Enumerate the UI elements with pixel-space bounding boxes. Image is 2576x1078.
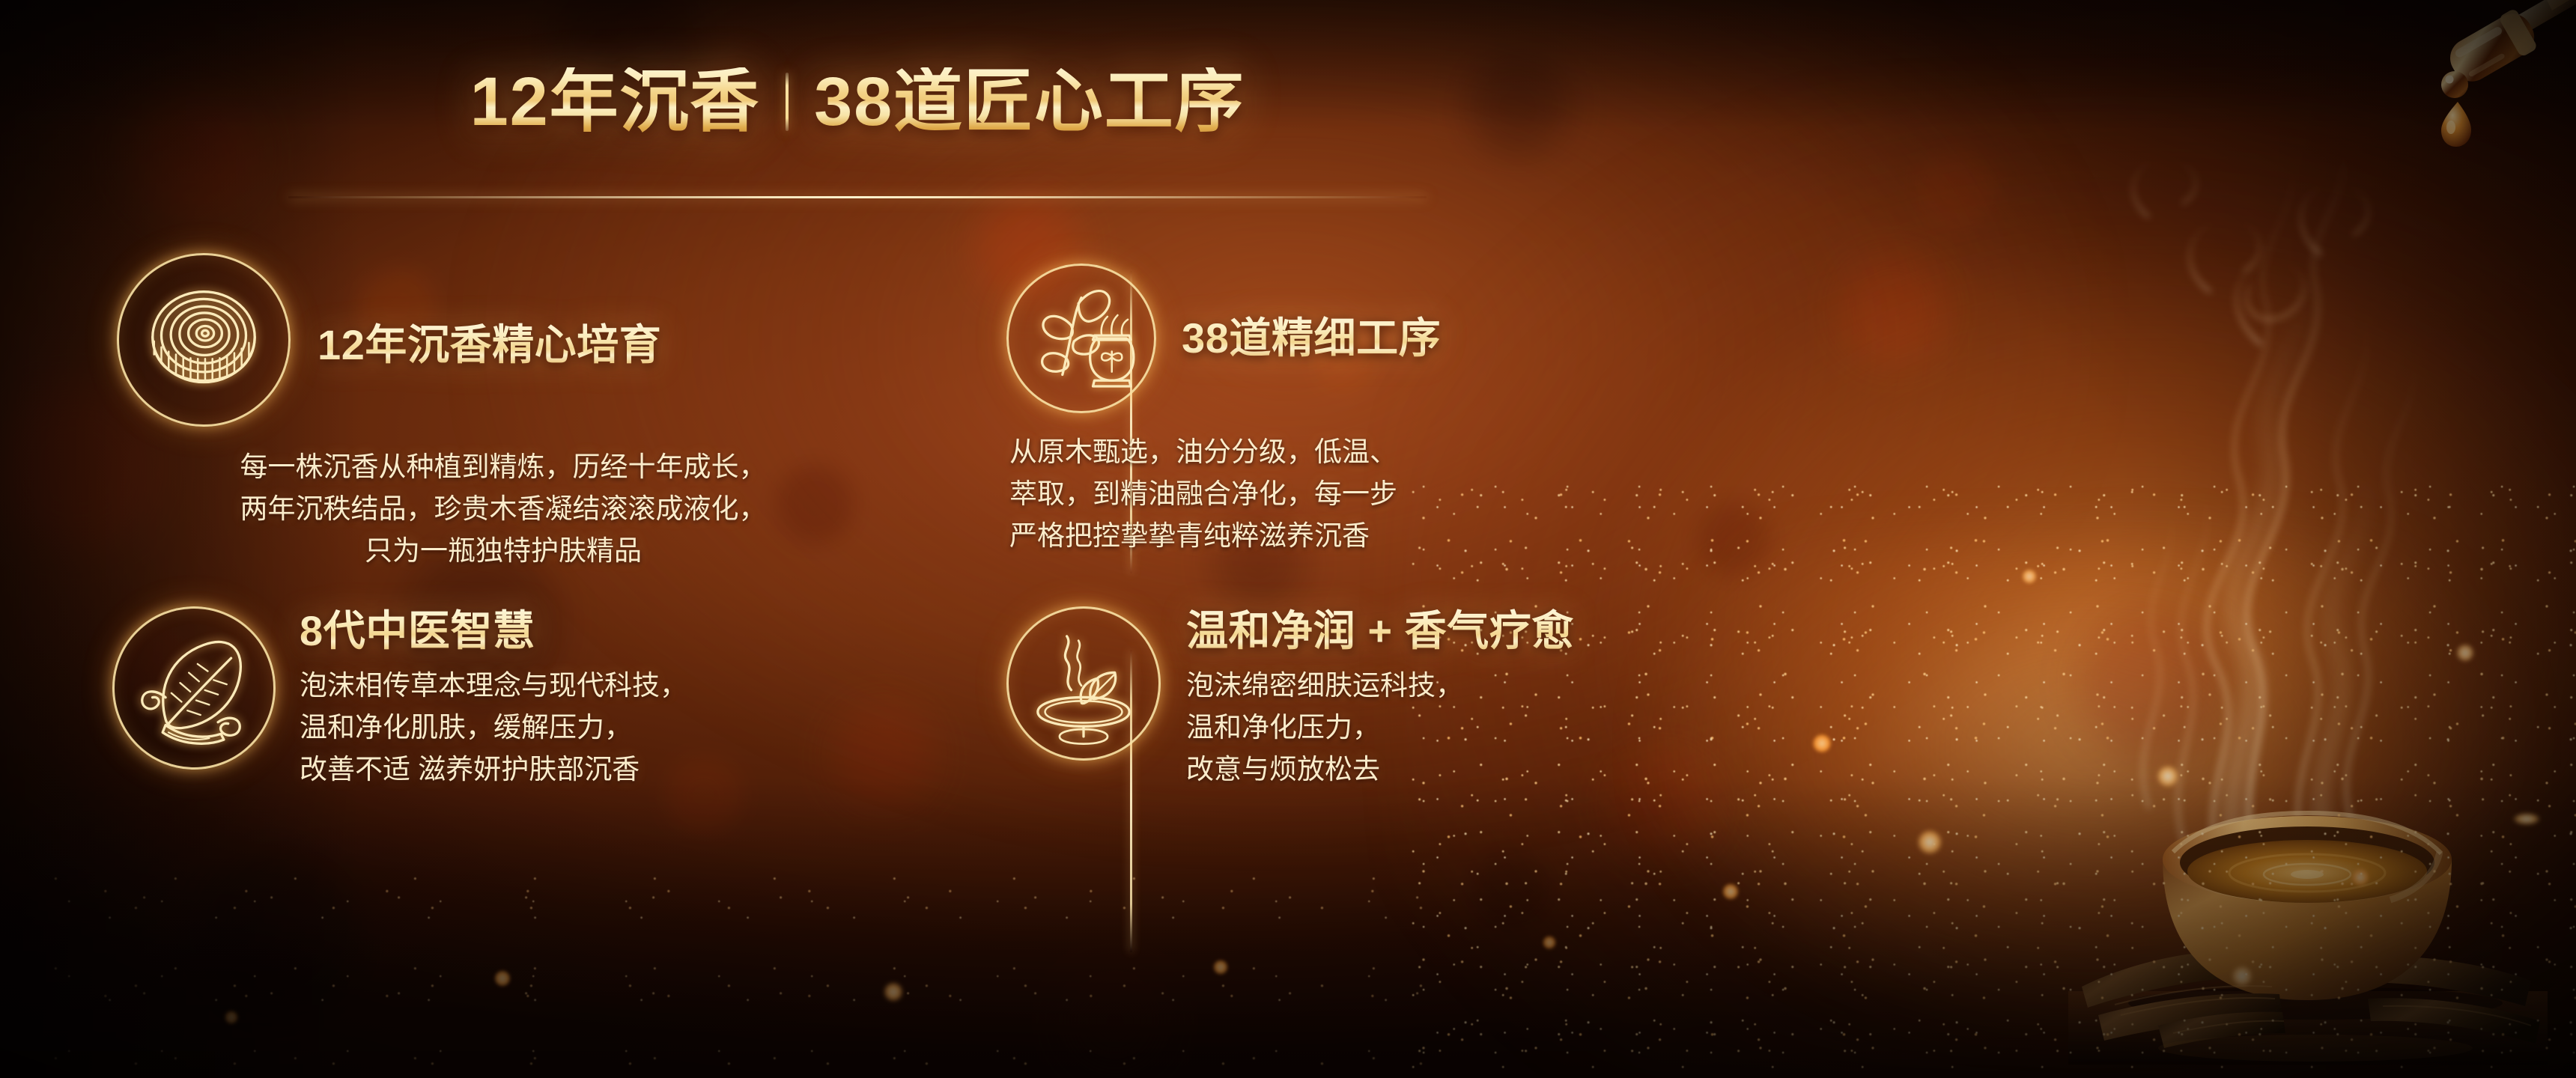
feature-card-4-header: 温和净润 + 香气疗愈 泡沫绵密细肤运科技， 温和净化压力， 改意与烦放松去 [967,602,1739,791]
title-left-text: 12年沉香 [470,67,761,136]
feature-card-2-header: 38道精细工序 [967,264,1739,413]
feature-card-2-body: 从原木甄选，油分分级，低温、 萃取，到精油融合净化，每一步 严格把控挚挚青纯粹滋… [967,431,1739,558]
feature-grid: 12年沉香精心培育 每一株沉香从种植到精炼，历经十年成长， 两年沉秩结品，珍贵木… [84,264,1739,982]
banner-stage: 12年沉香 38道匠心工序 [0,0,2576,1078]
feature-card-3-heading: 8代中医智慧 [300,608,687,654]
herb-jar-icon [1006,264,1156,413]
banner-content: 12年沉香 38道匠心工序 [0,0,2576,1078]
feature-card-1-body: 每一株沉香从种植到精炼，历经十年成长， 两年沉秩结品，珍贵木香凝结滚滚成液化， … [84,446,967,573]
incense-burner-icon [1006,606,1161,761]
feature-card-2-heading: 38道精细工序 [1182,315,1441,362]
feature-card-3[interactable]: 8代中医智慧 泡沫相传草本理念与现代科技， 温和净化肌肤，缓解压力， 改善不适 … [84,585,967,885]
feature-card-2[interactable]: 38道精细工序 从原木甄选，油分分级，低温、 萃取，到精油融合净化，每一步 严格… [967,264,1739,585]
title-separator-icon [786,73,789,131]
feature-card-3-body: 泡沫相传草本理念与现代科技， 温和净化肌肤，缓解压力， 改善不适 滋养妍护肤部沉… [300,665,687,791]
feature-card-1-header: 12年沉香精心培育 [84,264,967,427]
feature-card-4-body: 泡沫绵密细肤运科技， 温和净化压力， 改意与烦放松去 [1186,665,1574,791]
feature-card-3-header: 8代中医智慧 泡沫相传草本理念与现代科技， 温和净化肌肤，缓解压力， 改善不适 … [84,603,967,791]
leaf-scroll-icon [112,606,276,770]
banner-title: 12年沉香 38道匠心工序 [0,67,1715,136]
feature-card-1-heading: 12年沉香精心培育 [318,322,661,368]
feature-card-3-text-column: 8代中医智慧 泡沫相传草本理念与现代科技， 温和净化肌肤，缓解压力， 改善不适 … [300,603,687,791]
tree-rings-icon [117,253,291,427]
feature-card-4-text-column: 温和净润 + 香气疗愈 泡沫绵密细肤运科技， 温和净化压力， 改意与烦放松去 [1186,602,1574,791]
title-underline-divider [0,196,1715,199]
feature-card-4-heading: 温和净润 + 香气疗愈 [1186,608,1574,654]
feature-card-1[interactable]: 12年沉香精心培育 每一株沉香从种植到精炼，历经十年成长， 两年沉秩结品，珍贵木… [84,264,967,585]
feature-card-4[interactable]: 温和净润 + 香气疗愈 泡沫绵密细肤运科技， 温和净化压力， 改意与烦放松去 [967,585,1739,885]
title-right-text: 38道匠心工序 [814,67,1245,136]
